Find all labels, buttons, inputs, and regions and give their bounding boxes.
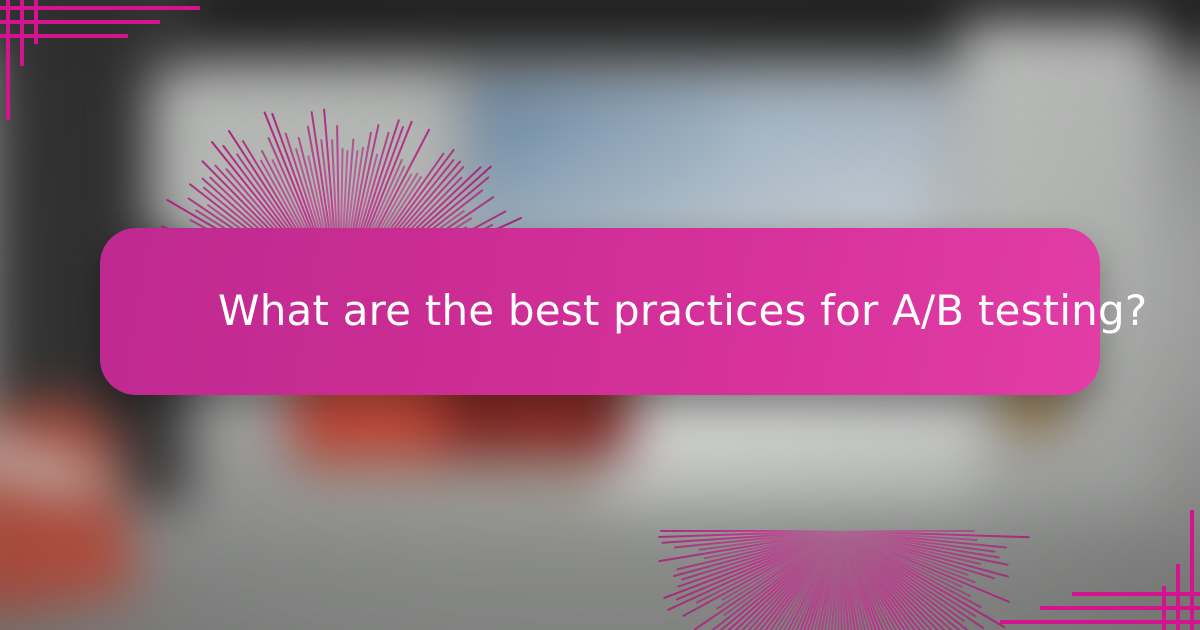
question-text: What are the best practices for A/B test…: [100, 285, 1200, 338]
background-whiteboard: [150, 70, 450, 240]
background-screen-secondary: [730, 78, 950, 228]
question-banner: What are the best practices for A/B test…: [100, 228, 1100, 395]
screenshot-canvas: What are the best practices for A/B test…: [0, 0, 1200, 630]
background-floor: [0, 505, 1200, 590]
background-desk: [600, 390, 980, 510]
